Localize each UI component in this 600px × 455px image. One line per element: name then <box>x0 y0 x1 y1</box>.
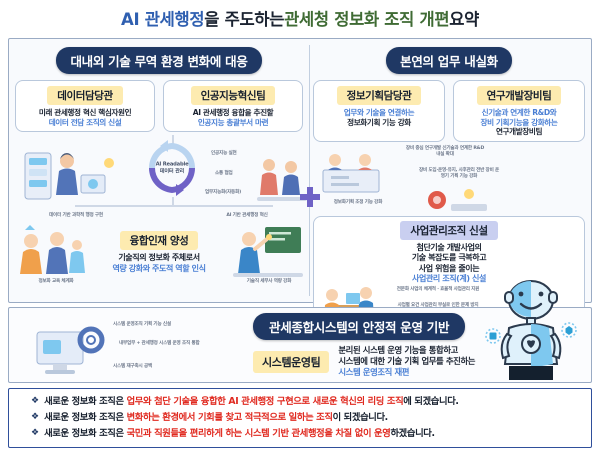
bullet-highlight: 국민과 직원들을 편리하게 하는 시스템 기반 관세행정을 차질 없이 운영 <box>127 428 391 439</box>
system-caption-0: 시스템 운영조직 기획 기능 신설 <box>113 322 199 328</box>
card-chip-data-officer: 데이터담당관 <box>47 86 123 105</box>
title-segment-reorg: 관세청 정보화 조직 개편 <box>284 6 449 30</box>
cycle-side-note-0: 데이터 기반 과학적 행정 구현 <box>21 213 131 219</box>
infographic-page: AI 관세행정 을 주도하는 관세청 정보화 조직 개편 요약 대내외 기술 무… <box>0 0 600 455</box>
right-caption-rnd-1: 장비 도입·운영·유지, 사후관리 전반 장비 운영기 기획 기능 강화 <box>417 168 501 180</box>
card-line: 인공지능 총괄부서 마련 <box>168 118 298 128</box>
system-caption-2: 시스템 재구축시 공백 <box>113 364 199 370</box>
cycle-side-note-1: AI 기반 관세행정 혁신 <box>197 213 297 219</box>
system-line: 분리된 시스템 운영 기능을 통합하고 <box>338 345 475 356</box>
system-text-area: 관세종합시스템의 안정적 운영 기반 시스템운영팀 분리된 시스템 운영 기능을… <box>209 308 591 382</box>
system-team-chip: 시스템운영팀 <box>253 351 329 373</box>
teaching-illustration-right <box>231 225 305 281</box>
right-caption-rnd-0: 장비 중심 연구개발 신기술과 연계한 R&D 내실 확대 <box>405 146 485 158</box>
card-text-info-planning: 업무와 기술을 연결하는 정보화기획 기능 강화 <box>318 108 440 127</box>
title-segment-leading: 을 주도하는 <box>204 6 284 30</box>
card-line: 업무와 기술을 연결하는 <box>318 108 440 118</box>
system-section-header: 관세종합시스템의 안정적 운영 기반 <box>253 313 465 340</box>
card-line: 기술 복잡도를 극복하고 <box>318 253 580 263</box>
main-content-frame: 대내외 기술 무역 환경 변화에 대응 데이터담당관 미래 관세행정 혁신 핵심… <box>8 38 592 303</box>
system-illustration-area: 시스템 운영조직 기획 기능 신설 내부업무 + 관세행정 시스템 운영 조직 … <box>9 308 209 382</box>
card-line: 연구개발장비팀 <box>458 127 580 137</box>
system-caption-1: 내부업무 + 관세행정 시스템 운영 조직 통합 <box>119 341 205 347</box>
card-line: 사업 위험을 줄이는 <box>318 264 580 274</box>
left-panel-header: 대내외 기술 무역 환경 변화에 대응 <box>56 47 261 74</box>
card-line: 첨단기술 개발사업의 <box>318 243 580 253</box>
bullet-highlight: 변화하는 환경에서 기회를 찾고 적극적으로 일하는 조직 <box>127 412 333 423</box>
footer-bullet-2: ❖ 새로운 정보화 조직은 변화하는 환경에서 기회를 찾고 적극적으로 일하는… <box>31 412 581 424</box>
footer-bullet-1: ❖ 새로운 정보화 조직은 업무와 첨단 기술을 융합한 AI 관세행정 구현으… <box>31 396 581 408</box>
card-chip-rnd-equipment: 연구개발장비팀 <box>477 86 562 105</box>
title-segment-ai: AI 관세행정 <box>121 6 204 30</box>
bullet-pre: 새로운 정보화 조직은 <box>44 412 127 423</box>
system-team-lines: 분리된 시스템 운영 기능을 통합하고 시스템에 대한 기술 기획 업무를 추진… <box>338 345 475 379</box>
fusion-caption-0: 정보화 교육 체계화 <box>17 279 95 285</box>
card-text-data-officer: 미래 관세행정 혁신 핵심자원인 데이터 전담 조직의 신설 <box>20 108 150 127</box>
fusion-caption-1: 기술직 세무사 역량 강화 <box>227 279 311 285</box>
cycle-note-2: 업무지능화(자동화) <box>205 190 241 196</box>
card-chip-ai-innovation-team: 인공지능혁신팀 <box>191 86 276 105</box>
card-data-officer[interactable]: 데이터담당관 미래 관세행정 혁신 핵심자원인 데이터 전담 조직의 신설 <box>15 80 155 132</box>
plus-connector-icon <box>300 187 320 207</box>
title-segment-summary: 요약 <box>449 6 479 30</box>
card-line: 데이터 전담 조직의 신설 <box>20 118 150 128</box>
fusion-talent-block: 융합인재 양성 기술직의 정보화 주체로서 역량 강화와 주도적 역할 인식 <box>15 231 303 293</box>
robot-mascot-icon <box>485 278 577 386</box>
cycle-note-0: 인공지능 실현 <box>211 151 237 157</box>
monitor-gear-illustration <box>35 324 113 378</box>
planning-meeting-illustration <box>319 146 385 200</box>
cycle-center-label-wrap: AI Readable데이터 관리 <box>141 137 203 199</box>
left-card-row: 데이터담당관 미래 관세행정 혁신 핵심자원인 데이터 전담 조직의 신설 인공… <box>15 80 303 132</box>
card-chip-project-management: 사업관리조직 신설 <box>400 221 497 240</box>
footer-bullet-3: ❖ 새로운 정보화 조직은 국민과 직원들을 편리하게 하는 시스템 기반 관세… <box>31 428 581 440</box>
project-caption-0: 전문화 사업의 체계적 · 효율적 사업관리 지원 <box>390 287 486 293</box>
footer-commitments: ❖ 새로운 정보화 조직은 업무와 첨단 기술을 융합한 AI 관세행정 구현으… <box>8 388 592 448</box>
card-info-planning-officer[interactable]: 정보기획담당관 업무와 기술을 연결하는 정보화기획 기능 강화 <box>313 80 445 142</box>
diamond-bullet-icon: ❖ <box>31 412 39 423</box>
right-panel-header: 본연의 업무 내실화 <box>386 47 512 74</box>
bullet-pre: 새로운 정보화 조직은 <box>44 428 127 439</box>
card-text-ai-innovation-team: AI 관세행정 융합을 추진할 인공지능 총괄부서 마련 <box>168 108 298 127</box>
system-operation-section: 시스템 운영조직 기획 기능 신설 내부업무 + 관세행정 시스템 운영 조직 … <box>8 307 592 383</box>
bullet-pre: 새로운 정보화 조직은 <box>44 396 127 407</box>
footer-bullet-text: 새로운 정보화 조직은 변화하는 환경에서 기회를 찾고 적극적으로 일하는 조… <box>44 412 388 424</box>
system-line: 시스템 운영조직 재편 <box>338 367 475 378</box>
right-panel: 본연의 업무 내실화 정보기획담당관 업무와 기술을 연결하는 정보화기획 기능… <box>309 39 591 302</box>
card-chip-info-planning: 정보기획담당관 <box>337 86 422 105</box>
bullet-post: 이 되겠습니다. <box>333 412 388 423</box>
footer-bullet-text: 새로운 정보화 조직은 업무와 첨단 기술을 융합한 AI 관세행정 구현으로 … <box>44 396 459 408</box>
classroom-illustration-left <box>17 225 87 283</box>
bullet-highlight: 업무와 첨단 기술을 융합한 AI 관세행정 구현으로 새로운 혁신의 리딩 조… <box>127 396 404 407</box>
card-ai-innovation-team[interactable]: 인공지능혁신팀 AI 관세행정 융합을 추진할 인공지능 총괄부서 마련 <box>163 80 303 132</box>
cycle-center-label: AI Readable데이터 관리 <box>143 162 201 175</box>
card-rnd-equipment-team[interactable]: 연구개발장비팀 신기술과 연계한 R&D와 장비 기획기능을 강화하는 연구개발… <box>453 80 585 142</box>
left-panel: 대내외 기술 무역 환경 변화에 대응 데이터담당관 미래 관세행정 혁신 핵심… <box>9 39 309 302</box>
cycle-note-1: 소통 협업 <box>215 171 233 177</box>
card-text-rnd-equipment: 신기술과 연계한 R&D와 장비 기획기능을 강화하는 연구개발장비팀 <box>458 108 580 137</box>
card-line: 정보화기획 기능 강화 <box>318 118 440 128</box>
right-illustration-band: 정보화기획 조정 기능 강화 장비 중심 연구개발 신기술과 연계한 R&D 내… <box>313 142 585 214</box>
diamond-bullet-icon: ❖ <box>31 396 39 407</box>
fusion-chip: 융합인재 양성 <box>120 231 199 250</box>
card-line: 미래 관세행정 혁신 핵심자원인 <box>20 108 150 118</box>
diamond-bullet-icon: ❖ <box>31 428 39 439</box>
card-line: 장비 기획기능을 강화하는 <box>458 118 580 128</box>
card-line: 신기술과 연계한 R&D와 <box>458 108 580 118</box>
bullet-post: 에 되겠습니다. <box>403 396 458 407</box>
page-title: AI 관세행정 을 주도하는 관세청 정보화 조직 개편 요약 <box>0 0 600 36</box>
left-illustration-band: AI Readable데이터 관리 인공지능 실현 소통 협업 업무지능화(자동… <box>15 135 303 229</box>
right-card-row: 정보기획담당관 업무와 기술을 연결하는 정보화기획 기능 강화 연구개발장비팀… <box>313 80 585 142</box>
person-server-illustration <box>23 145 119 211</box>
right-caption-0: 정보화기획 조정 기능 강화 <box>315 200 401 206</box>
system-line: 시스템에 대한 기술 기획 업무를 추진하는 <box>338 356 475 367</box>
bullet-post: 하겠습니다. <box>390 428 434 439</box>
footer-bullet-text: 새로운 정보화 조직은 국민과 직원들을 편리하게 하는 시스템 기반 관세행정… <box>44 428 435 440</box>
card-line: AI 관세행정 융합을 추진할 <box>168 108 298 118</box>
rnd-equipment-illustration <box>417 186 497 220</box>
